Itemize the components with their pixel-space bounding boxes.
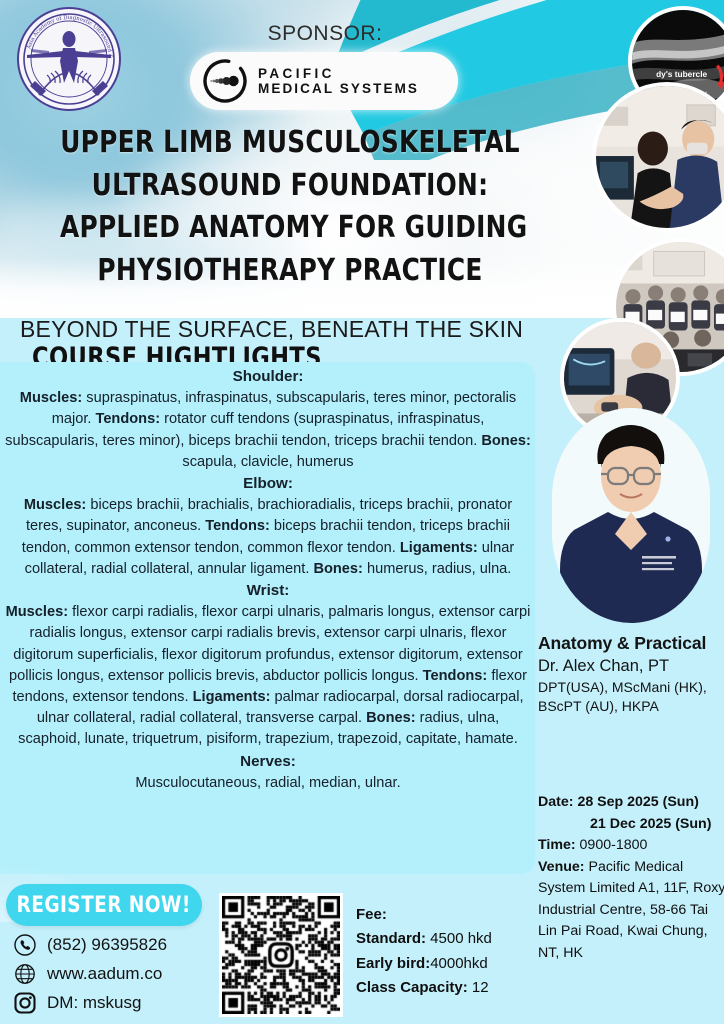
tagline: BEYOND THE SURFACE, BENEATH THE SKIN xyxy=(20,316,523,343)
time-label: Time: xyxy=(538,837,576,853)
sponsor-label: SPONSOR: xyxy=(190,22,460,46)
event-venue-row: Venue: Pacific Medical System Limited A1… xyxy=(538,857,724,965)
title-line-2: ULTRASOUND FOUNDATION: xyxy=(60,165,520,208)
poster: Asia Academy of Diagnostic Ultrasound & … xyxy=(0,0,724,1024)
section-body-2-0: Muscles: flexor carpi radialis, flexor c… xyxy=(4,602,532,751)
instagram-qr-code[interactable] xyxy=(219,893,343,1017)
title-line-3: APPLIED ANATOMY FOR GUIDING xyxy=(60,207,520,250)
event-date-row: Date: 28 Sep 2025 (Sun) xyxy=(538,792,724,814)
sponsor-name-line2: MEDICAL SYSTEMS xyxy=(258,81,419,96)
section-body-0-0: Muscles: supraspinatus, infraspinatus, s… xyxy=(4,388,532,473)
academy-logo: Asia Academy of Diagnostic Ultrasound & … xyxy=(17,7,121,111)
course-content-text: Shoulder:Muscles: supraspinatus, infrasp… xyxy=(4,366,532,794)
fee-capacity-value: 12 xyxy=(468,979,489,996)
fee-standard-value: 4500 hkd xyxy=(426,930,492,947)
contact-list: (852) 96395826www.aadum.coDM: mskusg xyxy=(14,930,244,1017)
event-time-row: Time: 0900-1800 xyxy=(538,835,724,857)
register-now-button[interactable]: REGISTER NOW! xyxy=(6,884,202,926)
section-heading-2: Wrist: xyxy=(4,580,532,602)
event-details: Date: 28 Sep 2025 (Sun) 21 Dec 2025 (Sun… xyxy=(538,792,724,965)
date-value-1: 28 Sep 2025 (Sun) xyxy=(577,794,698,810)
time-value: 0900-1800 xyxy=(580,837,648,853)
fee-capacity-label: Class Capacity: xyxy=(356,979,468,996)
contact-row-1[interactable]: www.aadum.co xyxy=(14,959,244,988)
section-heading-3: Nerves: xyxy=(4,751,532,773)
phone-icon xyxy=(14,934,36,956)
poster-title: UPPER LIMB MUSCULOSKELETAL ULTRASOUND FO… xyxy=(60,122,520,292)
date-value-2: 21 Dec 2025 (Sun) xyxy=(538,814,724,836)
instagram-icon xyxy=(14,992,36,1014)
fee-earlybird-value: 4000hkd xyxy=(430,955,488,972)
sponsor-block: SPONSOR: PACIFIC MEDICAL SYSTEMS xyxy=(190,22,460,110)
contact-text-1: www.aadum.co xyxy=(47,964,162,984)
instructor-name: Dr. Alex Chan, PT xyxy=(538,657,724,676)
globe-icon xyxy=(14,963,36,985)
register-now-label: REGISTER NOW! xyxy=(17,893,191,918)
sponsor-name-line1: PACIFIC xyxy=(258,66,419,81)
fee-earlybird-label: Early bird: xyxy=(356,955,430,972)
title-line-4: PHYSIOTHERAPY PRACTICE xyxy=(60,250,520,293)
fee-earlybird-row: Early bird:4000hkd xyxy=(356,952,536,976)
fee-block: Fee: Standard: 4500 hkd Early bird:4000h… xyxy=(356,903,536,1000)
venue-label: Venue: xyxy=(538,859,585,875)
instructor-portrait xyxy=(552,408,710,623)
section-body-1-0: Muscles: biceps brachii, brachialis, bra… xyxy=(4,495,532,580)
section-heading-1: Elbow: xyxy=(4,473,532,495)
instructor-credentials-line2: BScPT (AU), HKPA xyxy=(538,697,724,716)
svg-text:dy's tubercle: dy's tubercle xyxy=(656,69,707,79)
fee-capacity-row: Class Capacity: 12 xyxy=(356,976,536,1000)
contact-row-2[interactable]: DM: mskusg xyxy=(14,988,244,1017)
instructor-credentials-line1: DPT(USA), MScMani (HK), xyxy=(538,678,724,697)
section-body-3-0: Musculocutaneous, radial, median, ulnar. xyxy=(4,773,532,794)
contact-text-0: (852) 96395826 xyxy=(47,935,167,955)
pacific-medical-systems-mark xyxy=(202,58,248,104)
contact-row-0[interactable]: (852) 96395826 xyxy=(14,930,244,959)
fee-standard-label: Standard: xyxy=(356,930,426,947)
fee-standard-row: Standard: 4500 hkd xyxy=(356,927,536,951)
date-label: Date: xyxy=(538,794,573,810)
title-line-1: UPPER LIMB MUSCULOSKELETAL xyxy=(60,122,520,165)
fee-heading: Fee: xyxy=(356,906,387,923)
instructor-role: Anatomy & Practical xyxy=(538,633,724,654)
sponsor-logo: PACIFIC MEDICAL SYSTEMS xyxy=(190,52,458,110)
instructor-info: Anatomy & Practical Dr. Alex Chan, PT DP… xyxy=(538,633,724,715)
section-heading-0: Shoulder: xyxy=(4,366,532,388)
contact-text-2: DM: mskusg xyxy=(47,993,141,1013)
